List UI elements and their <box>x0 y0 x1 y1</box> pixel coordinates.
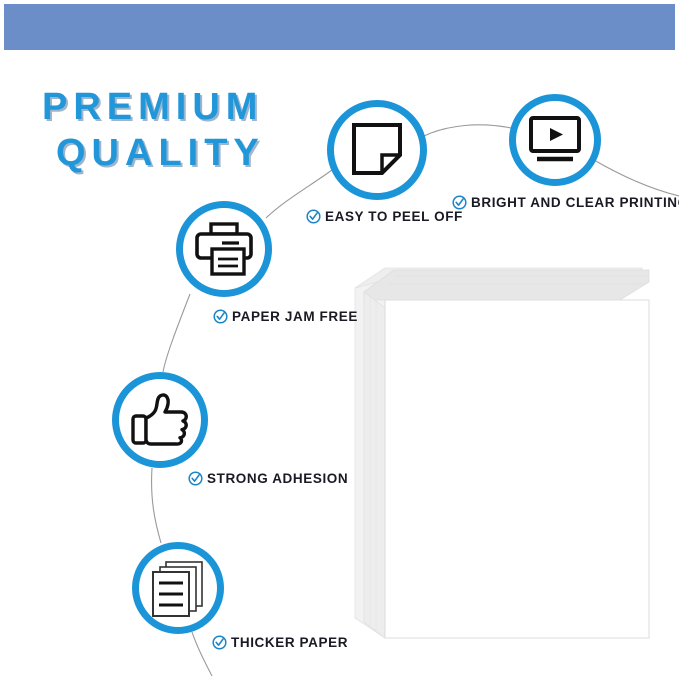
feature-circle-easy-to-peel-off[interactable] <box>327 100 427 200</box>
feature-label-text: STRONG ADHESION <box>207 471 348 486</box>
feature-label-text: PAPER JAM FREE <box>232 309 358 324</box>
connector-monitor-to-peel <box>424 125 520 136</box>
printer-icon <box>193 221 255 277</box>
feature-label-paper-jam-free: PAPER JAM FREE <box>213 309 358 324</box>
check-badge-icon <box>452 195 467 210</box>
check-badge-icon <box>213 309 228 324</box>
check-badge-icon <box>212 635 227 650</box>
connector-thumb-to-stack <box>152 468 161 543</box>
feature-label-text: EASY TO PEEL OFF <box>325 209 463 224</box>
connector-monitor-to-right <box>594 160 679 196</box>
monitor-play-icon <box>526 114 584 166</box>
page-title-line-2: QUALITY <box>56 134 342 174</box>
thumbs-up-icon <box>129 391 191 449</box>
page-title-line-1: PREMIUM <box>42 88 342 128</box>
peel-off-page-icon <box>346 119 408 181</box>
check-badge-icon <box>188 471 203 486</box>
feature-label-thicker-paper: THICKER PAPER <box>212 635 348 650</box>
top-banner <box>4 4 675 50</box>
check-badge-icon <box>306 209 321 224</box>
feature-label-easy-to-peel-off: EASY TO PEEL OFF <box>306 209 463 224</box>
feature-label-text: THICKER PAPER <box>231 635 348 650</box>
page-title: PREMIUM QUALITY <box>42 88 342 174</box>
paper-stack-icon <box>148 559 208 617</box>
paper-ream <box>352 262 652 644</box>
connector-printer-to-thumb <box>163 294 190 372</box>
feature-label-text: BRIGHT AND CLEAR PRINTING <box>471 195 679 210</box>
infographic-page: PREMIUM QUALITY <box>0 0 679 679</box>
feature-circle-bright-and-clear-printing[interactable] <box>509 94 601 186</box>
feature-circle-strong-adhesion[interactable] <box>112 372 208 468</box>
connector-stack-to-bottom <box>192 632 212 676</box>
feature-label-bright-and-clear-printing: BRIGHT AND CLEAR PRINTING <box>452 195 679 210</box>
feature-circle-paper-jam-free[interactable] <box>176 201 272 297</box>
feature-label-strong-adhesion: STRONG ADHESION <box>188 471 348 486</box>
feature-circle-thicker-paper[interactable] <box>132 542 224 634</box>
